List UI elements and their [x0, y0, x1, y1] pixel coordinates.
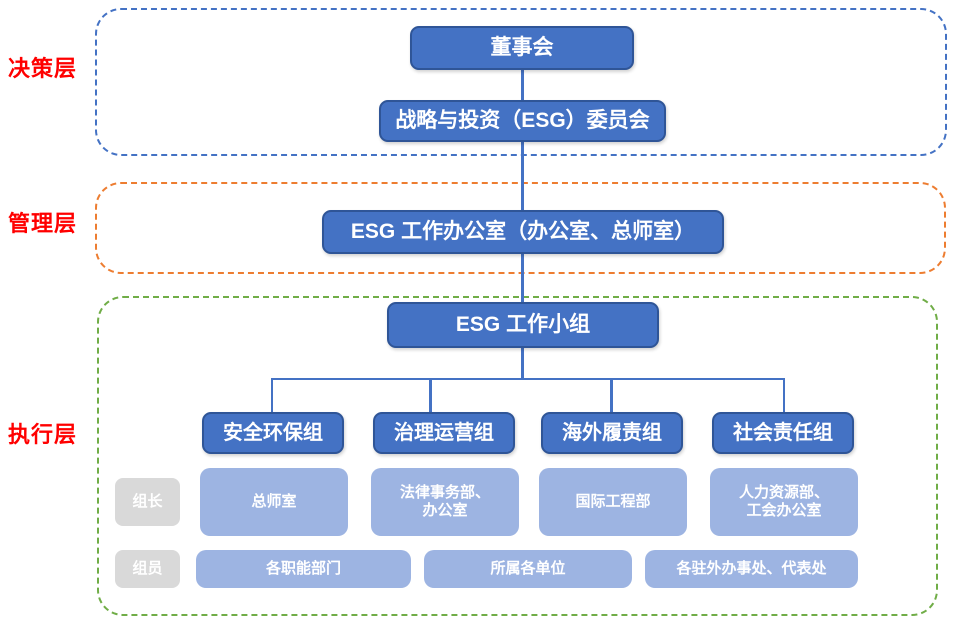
node-esg-working-office[interactable]: ESG 工作办公室（办公室、总师室） [322, 210, 724, 254]
layer-label-management: 管理层 [8, 213, 77, 235]
row-tag-leader: 组长 [115, 478, 180, 526]
connector-drop-group-3 [610, 378, 613, 414]
layer-label-decision: 决策层 [8, 58, 77, 80]
connector-committee-to-office [521, 140, 524, 212]
connector-board-to-committee [521, 68, 524, 102]
node-group-governance-operations[interactable]: 治理运营组 [373, 412, 515, 454]
node-group-overseas-responsibility[interactable]: 海外履责组 [541, 412, 683, 454]
node-leader-social-responsibility[interactable]: 人力资源部、 工会办公室 [710, 468, 858, 536]
connector-drop-group-2 [429, 378, 432, 414]
node-board-of-directors[interactable]: 董事会 [410, 26, 634, 70]
connector-office-to-workgroup [521, 252, 524, 304]
node-group-safety-environment[interactable]: 安全环保组 [202, 412, 344, 454]
row-tag-member: 组员 [115, 550, 180, 588]
layer-label-execution: 执行层 [8, 424, 77, 446]
node-esg-working-group[interactable]: ESG 工作小组 [387, 302, 659, 348]
node-leader-safety-environment[interactable]: 总师室 [200, 468, 348, 536]
node-group-social-responsibility[interactable]: 社会责任组 [712, 412, 854, 454]
node-member-functional-departments[interactable]: 各职能部门 [196, 550, 411, 588]
node-member-overseas-offices[interactable]: 各驻外办事处、代表处 [645, 550, 858, 588]
node-strategy-investment-esg-committee[interactable]: 战略与投资（ESG）委员会 [379, 100, 666, 142]
node-leader-governance-operations[interactable]: 法律事务部、 办公室 [371, 468, 519, 536]
connector-distribution-bar [271, 378, 785, 414]
node-member-affiliated-units[interactable]: 所属各单位 [424, 550, 632, 588]
org-chart-canvas: 决策层 管理层 执行层 董事会 战略与投资（ESG）委员会 ESG 工作办公室（… [0, 0, 958, 625]
node-leader-overseas-responsibility[interactable]: 国际工程部 [539, 468, 687, 536]
connector-workgroup-stem [521, 348, 524, 380]
